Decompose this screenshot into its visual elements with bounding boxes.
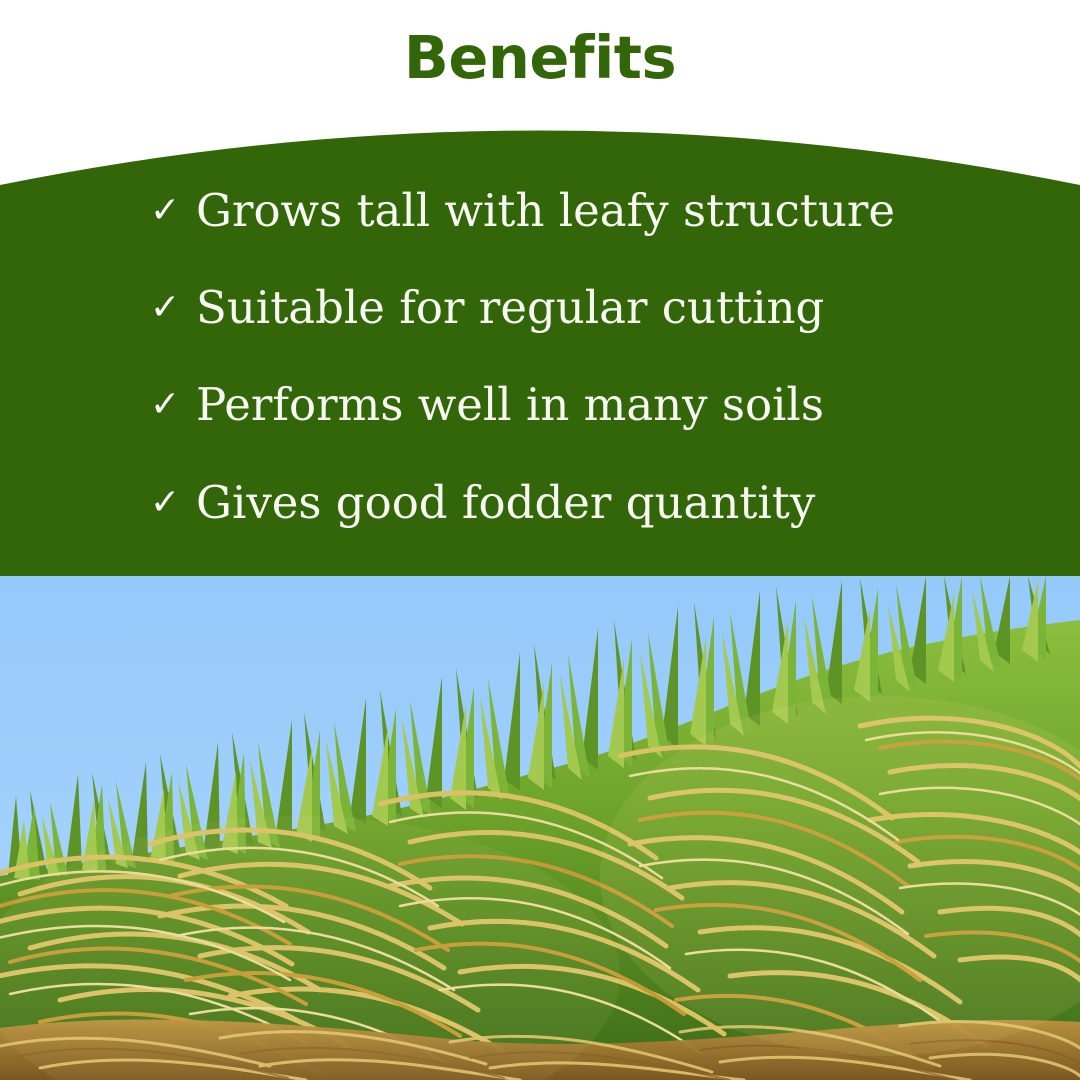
check-icon: ✓	[150, 374, 196, 436]
benefits-list: ✓ Grows tall with leafy structure ✓ Suit…	[0, 100, 1080, 576]
check-icon: ✓	[150, 180, 196, 242]
benefit-label: Performs well in many soils	[196, 374, 824, 436]
list-item: ✓ Gives good fodder quantity	[150, 472, 815, 534]
benefit-label: Gives good fodder quantity	[196, 472, 815, 534]
benefit-label: Grows tall with leafy structure	[196, 180, 895, 242]
crop-photo	[0, 576, 1080, 1080]
page-title: Benefits	[0, 28, 1080, 87]
list-item: ✓ Suitable for regular cutting	[150, 277, 824, 339]
check-icon: ✓	[150, 277, 196, 339]
benefits-panel: ✓ Grows tall with leafy structure ✓ Suit…	[0, 100, 1080, 576]
list-item: ✓ Grows tall with leafy structure	[150, 180, 895, 242]
check-icon: ✓	[150, 472, 196, 534]
benefit-label: Suitable for regular cutting	[196, 277, 824, 339]
benefits-infographic: Benefits ✓ Grows tall with leafy structu…	[0, 0, 1080, 1080]
list-item: ✓ Performs well in many soils	[150, 374, 824, 436]
crop-photo-image	[0, 576, 1080, 1080]
